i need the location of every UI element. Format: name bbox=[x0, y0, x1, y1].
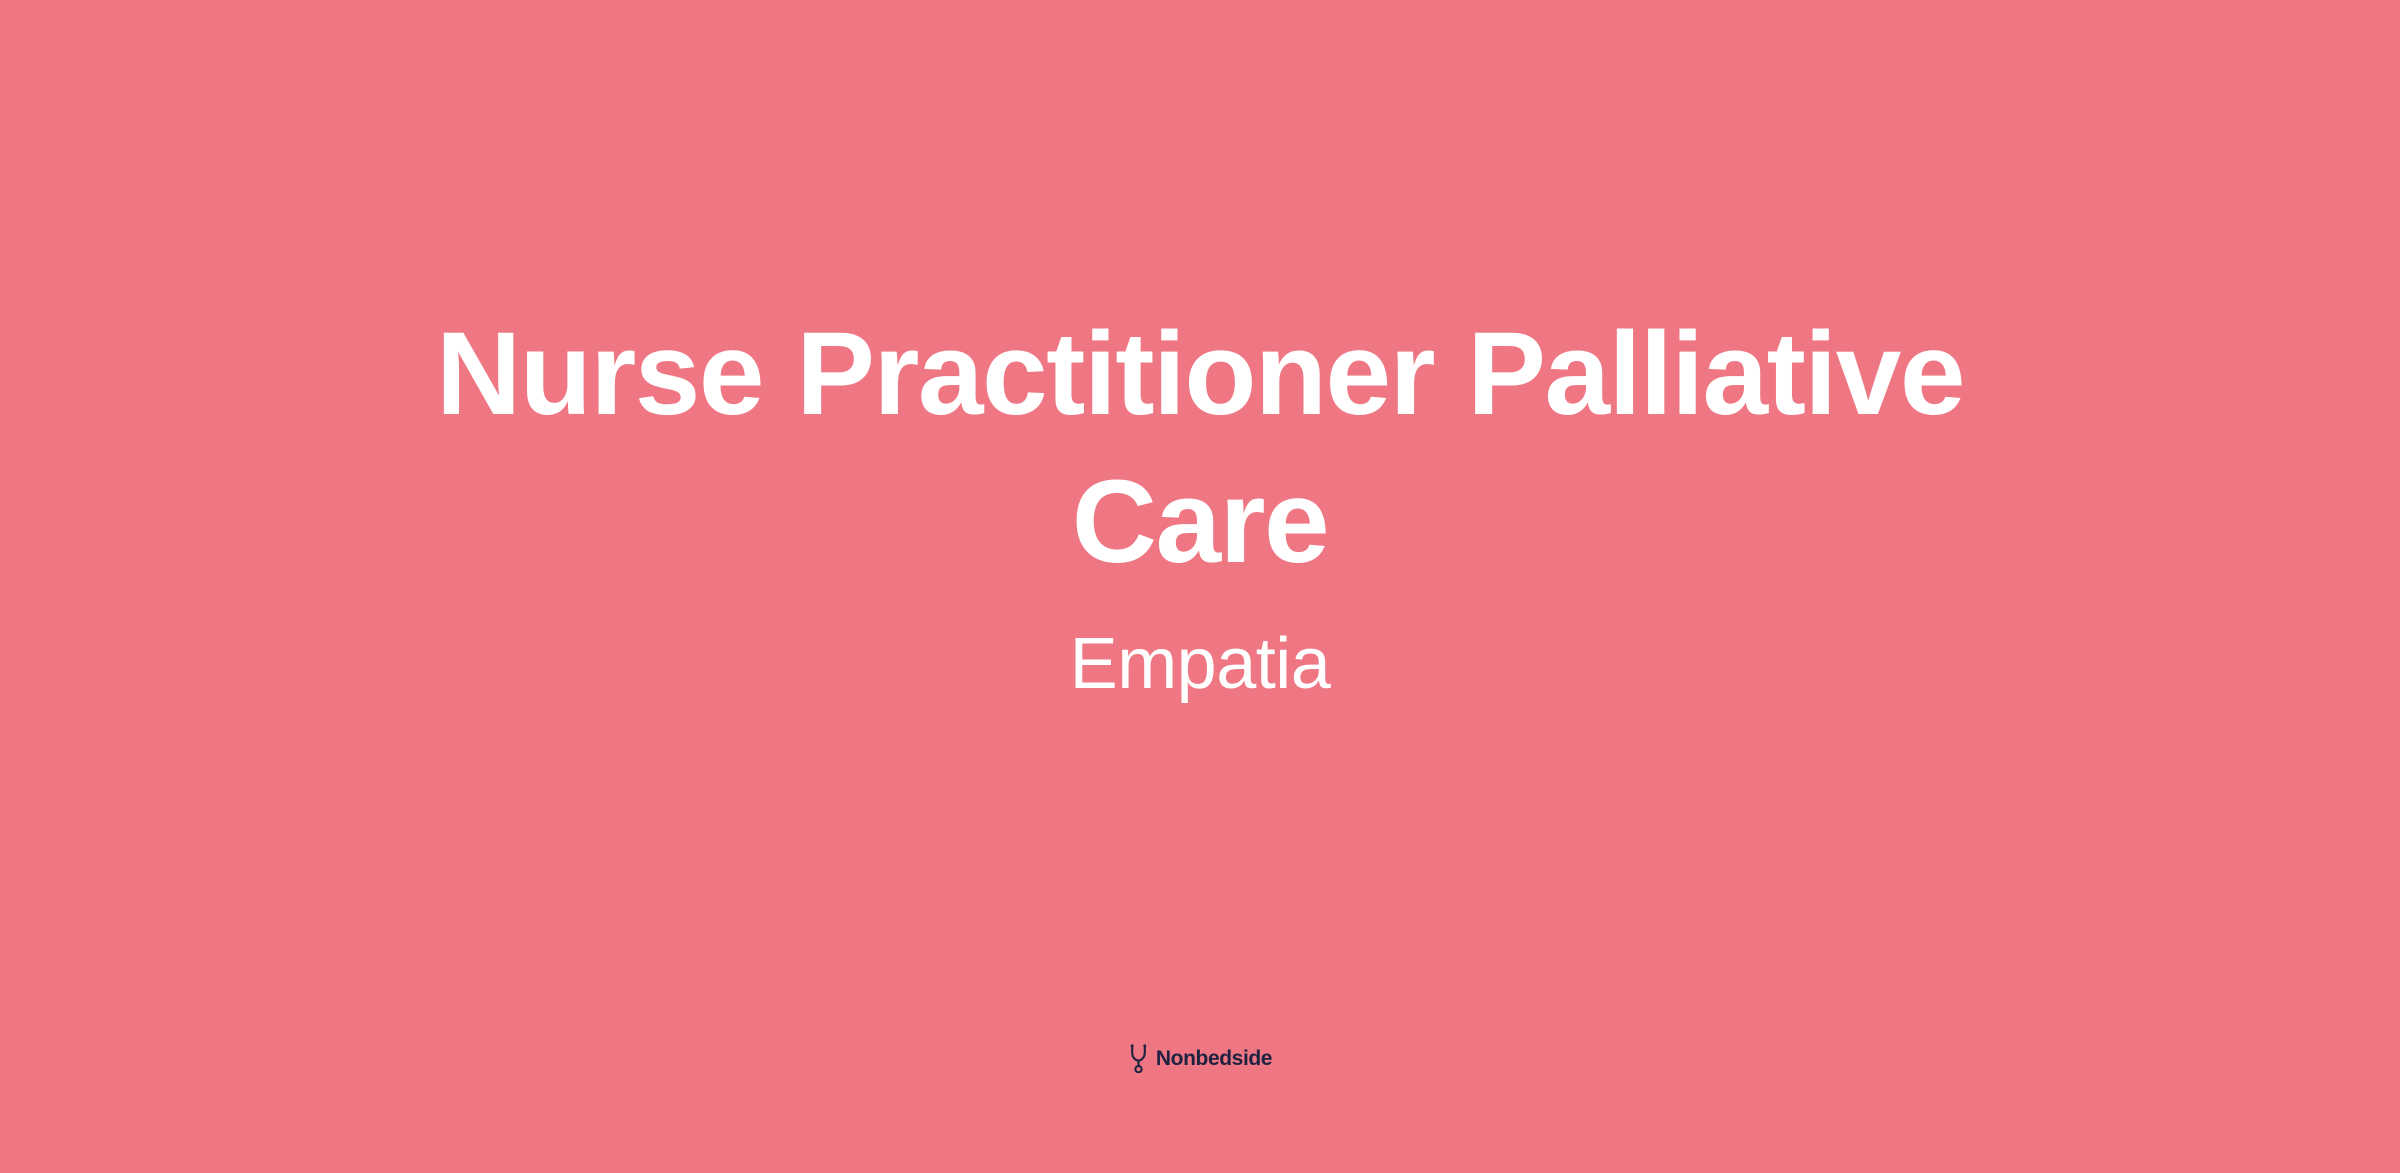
brand-logo: Nonbedside bbox=[0, 1044, 2400, 1073]
stethoscope-icon bbox=[1128, 1044, 1149, 1073]
page-subtitle: Empatia bbox=[420, 596, 1980, 710]
slide-canvas: Nurse Practitioner Palliative Care Empat… bbox=[0, 0, 2400, 1173]
page-title: Nurse Practitioner Palliative Care bbox=[420, 300, 1980, 596]
title-block: Nurse Practitioner Palliative Care Empat… bbox=[0, 300, 2400, 710]
brand-name: Nonbedside bbox=[1156, 1044, 1272, 1073]
